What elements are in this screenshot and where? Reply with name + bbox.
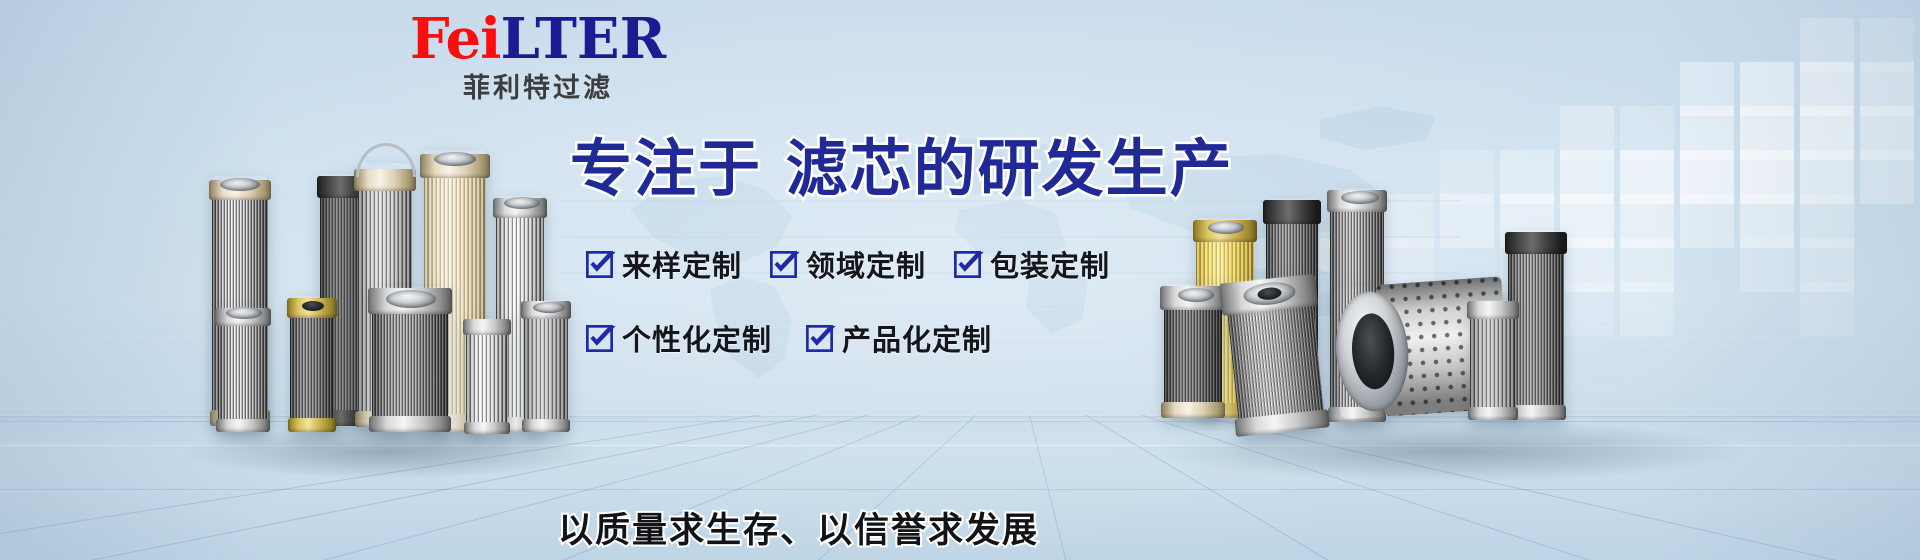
- filter-cartridge: [372, 286, 448, 432]
- brand-wordmark-lter: LTER: [500, 6, 666, 72]
- feature-item[interactable]: 领域定制: [770, 243, 926, 285]
- feature-item[interactable]: 产品化定制: [806, 317, 992, 359]
- checkbox-checked-icon: [770, 251, 797, 278]
- brand-logo[interactable]: FeiLTER 菲利特过滤: [388, 8, 688, 105]
- feature-item[interactable]: 包装定制: [954, 243, 1110, 285]
- checkbox-checked-icon: [586, 325, 613, 352]
- mosaic-square: [1740, 238, 1794, 292]
- product-shadow: [180, 425, 600, 479]
- filter-cartridge: [466, 318, 508, 434]
- feature-label: 来样定制: [622, 243, 742, 285]
- brand-wordmark: FeiLTER: [388, 8, 688, 70]
- feature-label: 产品化定制: [842, 317, 992, 359]
- headline: 专注于 滤芯的研发生产: [570, 133, 1234, 205]
- filter-cartridge: [1508, 230, 1564, 420]
- cartridge-handle: [356, 143, 416, 177]
- filter-cartridge: [524, 300, 568, 432]
- filter-cartridge: [290, 296, 334, 432]
- feature-label: 领域定制: [806, 243, 926, 285]
- feature-item[interactable]: 来样定制: [586, 243, 742, 285]
- feature-label: 包装定制: [990, 243, 1110, 285]
- feature-label: 个性化定制: [622, 317, 772, 359]
- mosaic-square: [1680, 194, 1734, 248]
- brand-wordmark-fei: Fei: [410, 6, 501, 72]
- checkbox-checked-icon: [954, 251, 981, 278]
- brand-name-chinese: 菲利特过滤: [388, 73, 688, 105]
- feature-row-2: 个性化定制 产品化定制: [586, 317, 1206, 359]
- filter-cartridge: [218, 306, 268, 432]
- checkbox-checked-icon: [586, 251, 613, 278]
- filter-cartridge: [1224, 272, 1326, 436]
- floor-line: [0, 489, 1920, 490]
- feature-list: 来样定制 领域定制 包装定制 个性化定制: [586, 243, 1206, 359]
- slogan: 以质量求生存、以信誉求发展: [558, 502, 1039, 553]
- feature-row-1: 来样定制 领域定制 包装定制: [586, 243, 1206, 285]
- promotional-banner: FeiLTER 菲利特过滤 专注于 滤芯的研发生产 来样定制 领域定制: [0, 0, 1920, 560]
- filter-cartridge: [1470, 300, 1516, 420]
- floor-line: [0, 415, 1920, 416]
- feature-item[interactable]: 个性化定制: [586, 317, 772, 359]
- checkbox-checked-icon: [806, 325, 833, 352]
- mosaic-square: [1860, 150, 1914, 204]
